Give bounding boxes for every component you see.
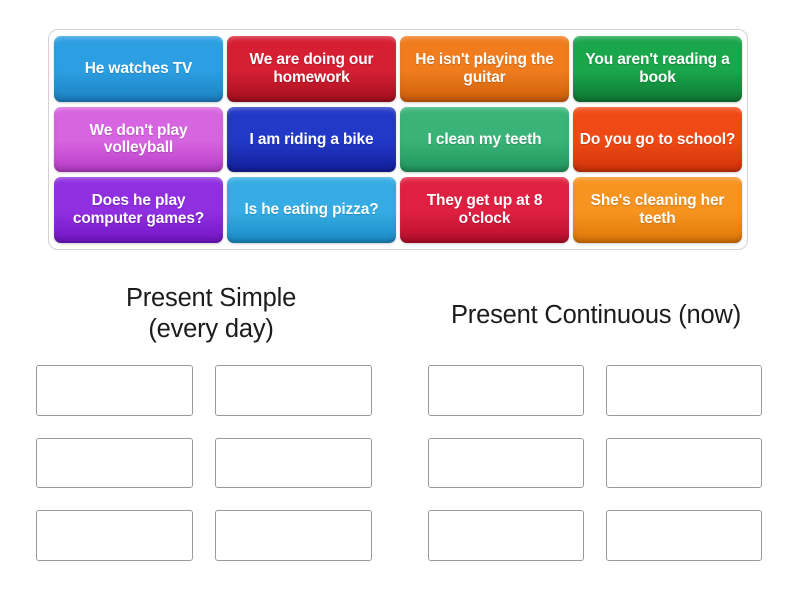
tile-label: She's cleaning her teeth [579, 192, 736, 228]
column-heading-line-2: (every day) [26, 314, 396, 345]
tile-grid: He watches TVWe are doing our homeworkHe… [54, 36, 742, 243]
column-heading-present-simple: Present Simple (every day) [26, 283, 396, 345]
tile-label: We are doing our homework [233, 51, 390, 87]
tile-they-get-up-at-8-oclock[interactable]: They get up at 8 o'clock [400, 177, 569, 243]
tile-we-are-doing-our-homework[interactable]: We are doing our homework [227, 36, 396, 102]
dropzone-slot[interactable] [36, 365, 193, 416]
dropzone-slot[interactable] [428, 510, 584, 561]
tile-he-watches-tv[interactable]: He watches TV [54, 36, 223, 102]
tile-label: Do you go to school? [580, 131, 735, 149]
dropzone-slot[interactable] [215, 365, 372, 416]
tile-shes-cleaning-her-teeth[interactable]: She's cleaning her teeth [573, 177, 742, 243]
dropzone-slot[interactable] [428, 438, 584, 489]
answer-tile-tray: He watches TVWe are doing our homeworkHe… [48, 29, 748, 250]
column-heading-line-1: Present Continuous (now) [406, 300, 786, 331]
tile-i-am-riding-a-bike[interactable]: I am riding a bike [227, 107, 396, 173]
tile-i-clean-my-teeth[interactable]: I clean my teeth [400, 107, 569, 173]
tile-you-arent-reading-a-book[interactable]: You aren't reading a book [573, 36, 742, 102]
tile-label: He watches TV [85, 60, 192, 78]
dropzone-slot[interactable] [428, 365, 584, 416]
tile-we-dont-play-volleyball[interactable]: We don't play volleyball [54, 107, 223, 173]
tile-is-he-eating-pizza[interactable]: Is he eating pizza? [227, 177, 396, 243]
dropzone-slot[interactable] [215, 438, 372, 489]
dropzone-slot[interactable] [36, 510, 193, 561]
tile-he-isnt-playing-the-guitar[interactable]: He isn't playing the guitar [400, 36, 569, 102]
tile-label: They get up at 8 o'clock [406, 192, 563, 228]
activity-canvas: He watches TVWe are doing our homeworkHe… [0, 0, 800, 600]
tile-label: He isn't playing the guitar [406, 51, 563, 87]
tile-does-he-play-computer-games[interactable]: Does he play computer games? [54, 177, 223, 243]
dropzone-slot[interactable] [36, 438, 193, 489]
dropzone-slot[interactable] [606, 365, 762, 416]
dropzone-group-present-simple [36, 365, 372, 561]
dropzone-slot[interactable] [215, 510, 372, 561]
dropzone-slot[interactable] [606, 438, 762, 489]
tile-label: You aren't reading a book [579, 51, 736, 87]
tile-label: I am riding a bike [250, 131, 374, 149]
tile-label: Is he eating pizza? [244, 201, 378, 219]
tile-label: We don't play volleyball [60, 122, 217, 158]
tile-label: I clean my teeth [428, 131, 542, 149]
column-heading-line-1: Present Simple [26, 283, 396, 314]
dropzone-slot[interactable] [606, 510, 762, 561]
column-heading-present-continuous: Present Continuous (now) [406, 300, 786, 331]
tile-label: Does he play computer games? [60, 192, 217, 228]
tile-do-you-go-to-school[interactable]: Do you go to school? [573, 107, 742, 173]
dropzone-group-present-continuous [428, 365, 762, 561]
